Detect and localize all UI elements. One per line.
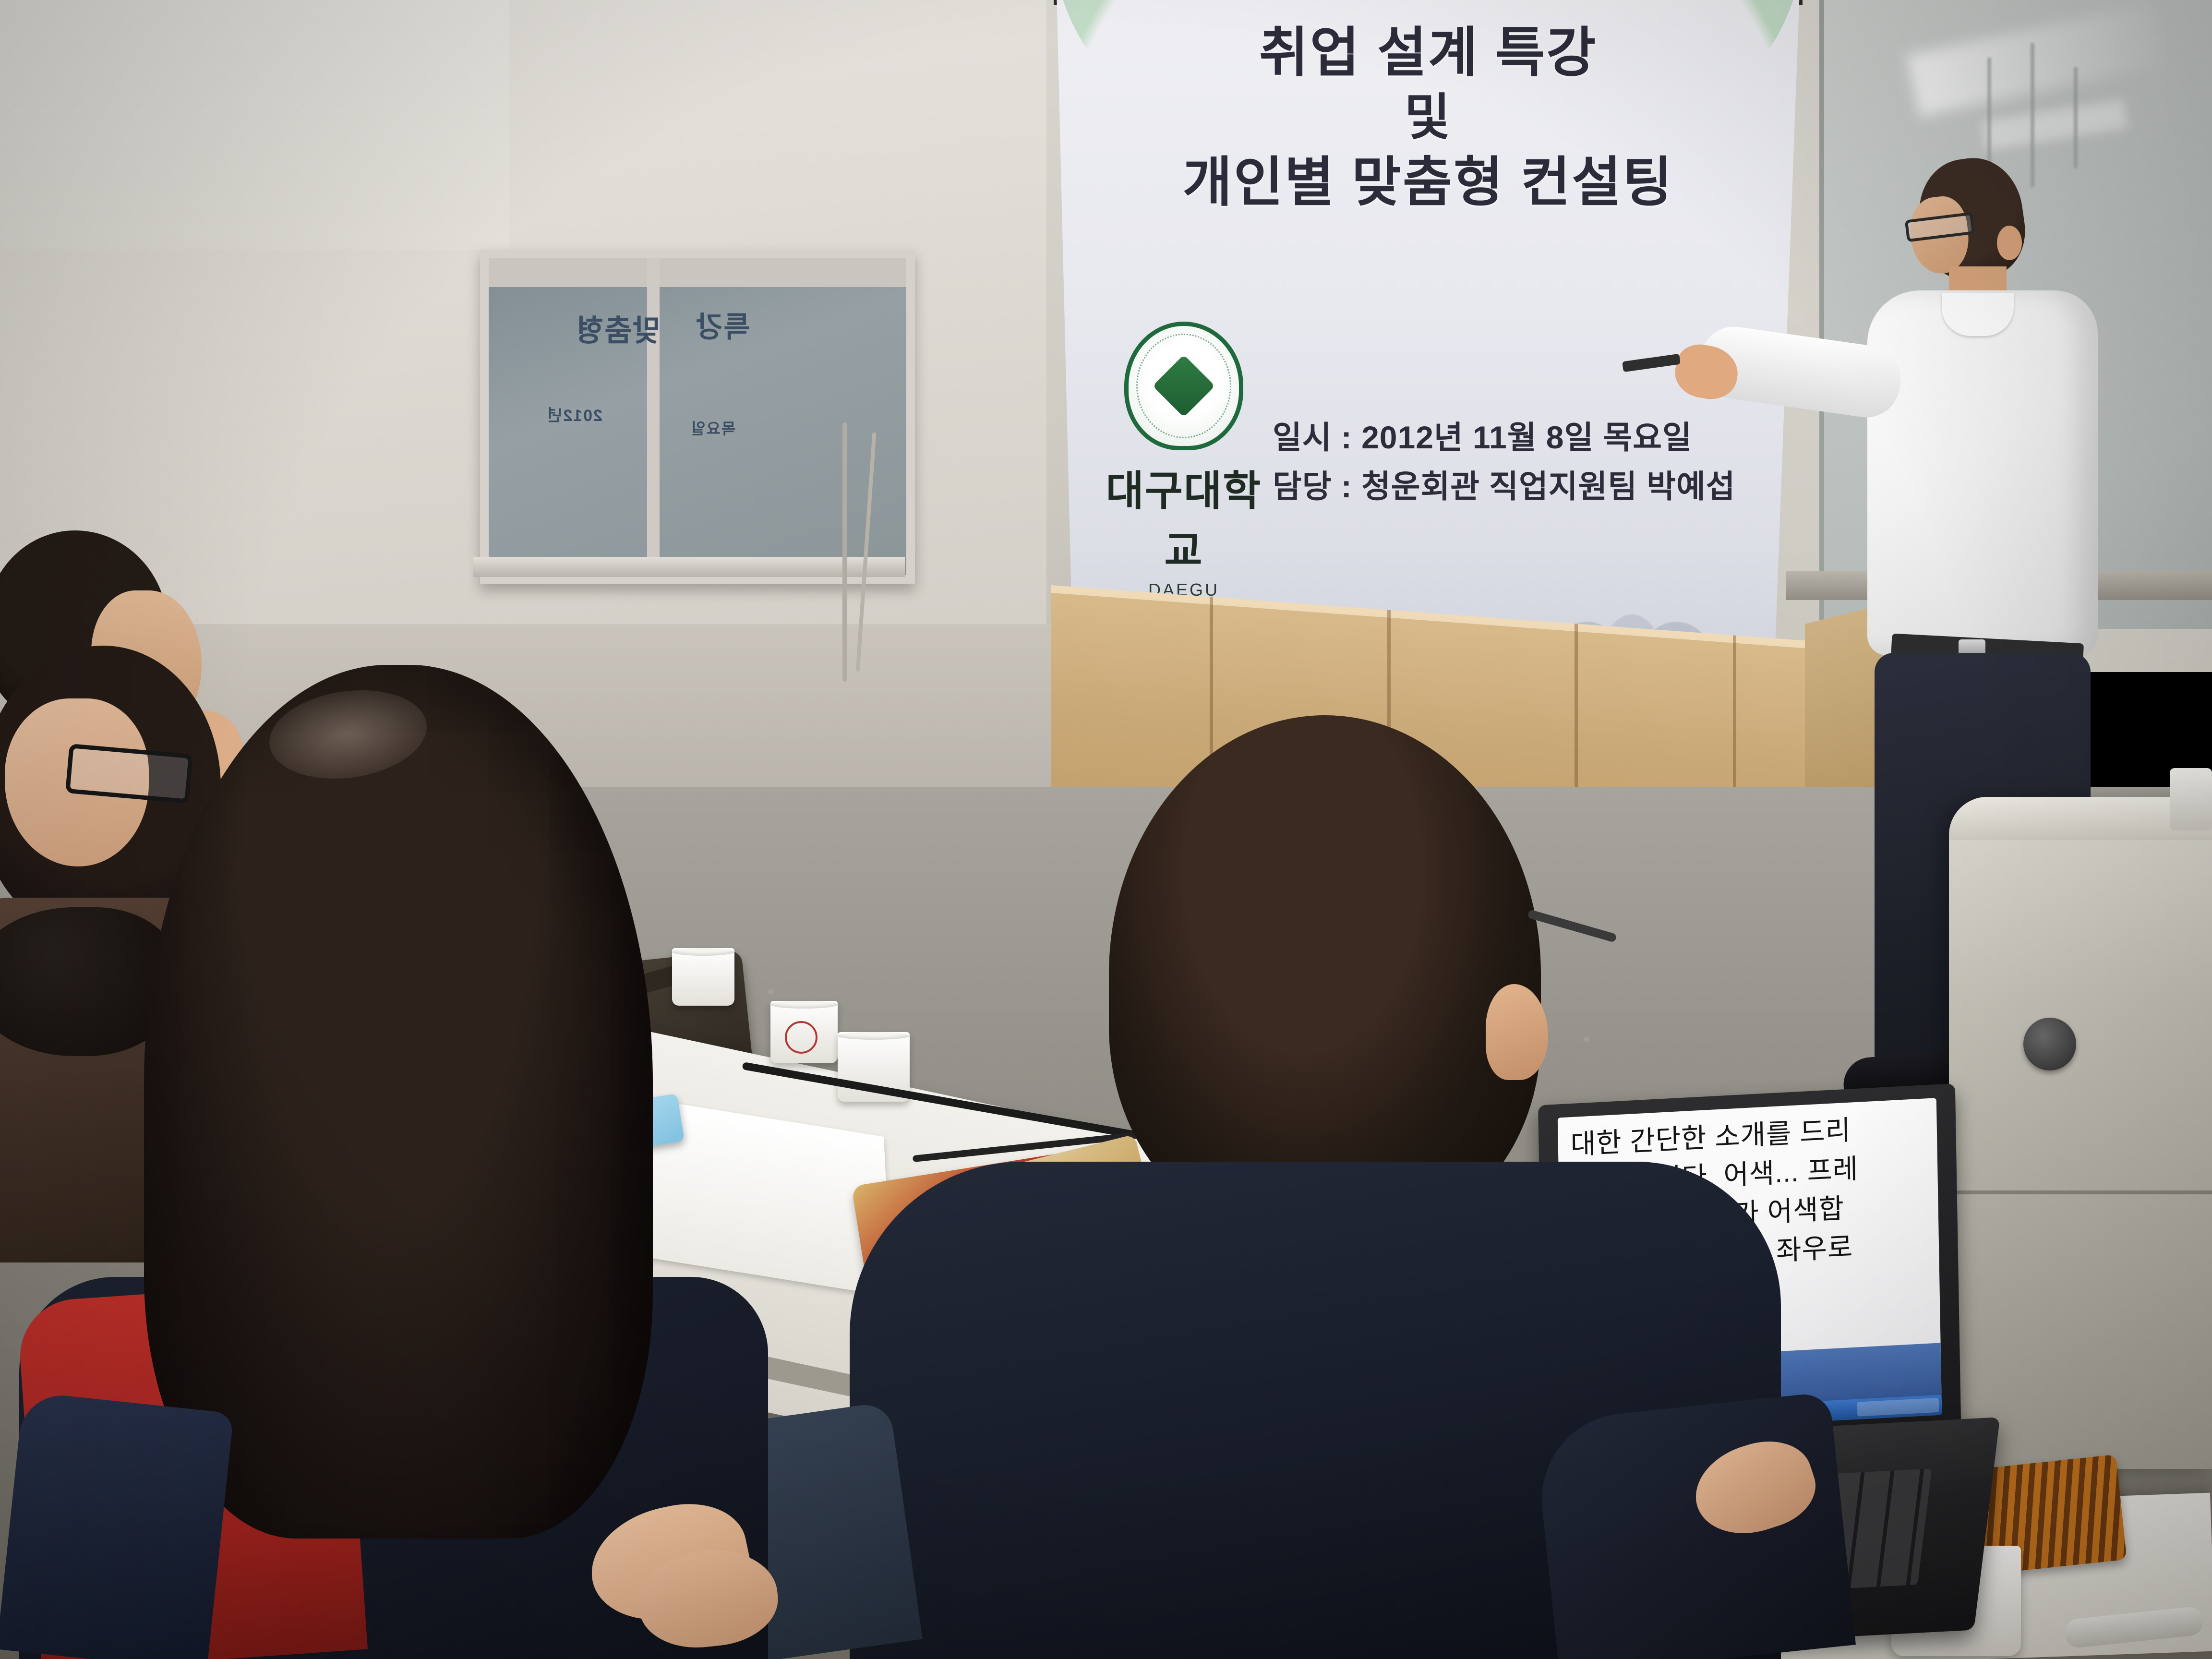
slide-title-line-3: 개인별 맞춤형 컨설팅 — [1057, 149, 1800, 216]
window-sign-text-2: 특강 — [695, 304, 750, 346]
slide-title-line-1: 취업 설계 특강 — [1057, 19, 1800, 86]
presenter-collar — [1942, 293, 2014, 336]
window-sign-text-4: 목요일 — [690, 417, 735, 439]
paper-cup — [672, 948, 734, 1006]
cup-rim — [672, 948, 734, 956]
university-crest-icon — [1124, 322, 1243, 450]
floor-speck — [1584, 1037, 1589, 1042]
podium-object — [2170, 768, 2212, 830]
floor-speck — [768, 989, 774, 995]
foreground-hair — [144, 665, 653, 1539]
slide-meta-date: 일시 : 2012년 11월 8일 목요일 — [1273, 413, 1735, 462]
wall-cable — [842, 422, 847, 682]
podium-knob — [2023, 1018, 2076, 1070]
podium-seam — [1949, 1190, 2212, 1194]
presenter-shirt — [1867, 290, 2098, 655]
system-tray[interactable] — [1857, 1398, 1939, 1417]
glare-highlight — [1907, 3, 2164, 116]
university-logo-block: 대구대학교 DAEGU UNIVERSITY — [1088, 322, 1280, 620]
window-mullion — [647, 258, 660, 575]
slide-title-line-2: 및 — [1057, 86, 1800, 149]
upper-wall-strip — [0, 0, 509, 250]
chair — [0, 1391, 234, 1659]
podium-cabinet — [1949, 797, 2212, 1469]
window-blind — [489, 258, 906, 287]
wall-window: 맞춤형 특강 2012년 목요일 — [480, 250, 915, 584]
paper-cup — [770, 1001, 838, 1063]
window-sign-text-1: 맞춤형 — [575, 306, 660, 349]
laptop-user-hair — [1109, 715, 1541, 1234]
marker-stroke — [2074, 67, 2078, 168]
slide-title: 취업 설계 특강 및 개인별 맞춤형 컨설팅 — [1057, 19, 1800, 216]
photo-scene: 맞춤형 특강 2012년 목요일 취업 설계 특강 및 개인별 맞춤형 컨설팅 … — [0, 0, 2212, 1659]
slide-meta: 일시 : 2012년 11월 8일 목요일 담당 : 청운회관 직업지원팀 박예… — [1273, 413, 1735, 511]
laptop-user-arm — [1533, 1392, 1856, 1659]
cup-rim — [770, 1001, 838, 1009]
projection-screen: 취업 설계 특강 및 개인별 맞춤형 컨설팅 대구대학교 DAEGU UNIVE… — [1057, 0, 1800, 689]
cup-rim — [838, 1032, 910, 1040]
window-sill — [473, 557, 905, 577]
cup-logo-icon — [785, 1021, 817, 1054]
logo-name-korean: 대구대학교 — [1088, 457, 1280, 577]
window-sign-text-3: 2012년 — [546, 402, 602, 426]
glare-highlight-secondary — [1981, 99, 2128, 150]
presenter-ear — [1997, 226, 2022, 260]
